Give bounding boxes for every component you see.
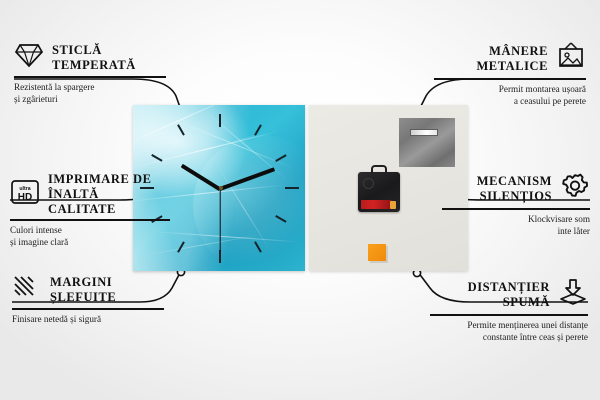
feature-tempered-glass[interactable]: STICLĂ TEMPERATĂ Rezistentă la spargere … <box>14 42 166 105</box>
feature-subtitle: Rezistentă la spargere și zgârieturi <box>14 81 166 105</box>
feature-foam-spacer[interactable]: DISTANȚIER SPUMĂ Permite menținerea unei… <box>430 278 588 343</box>
infographic-canvas: STICLĂ TEMPERATĂ Rezistentă la spargere … <box>0 0 600 400</box>
hanging-picture-icon <box>556 42 586 75</box>
hatched-edge-icon <box>12 274 42 305</box>
mechanism-hook <box>371 165 387 174</box>
feature-high-quality-print[interactable]: ultra HD IMPRIMARE DE ÎNALTĂ CALITATE Cu… <box>10 172 170 248</box>
mechanism-dial <box>363 178 374 189</box>
feature-divider <box>434 78 586 80</box>
feature-divider <box>442 208 590 210</box>
feature-title: IMPRIMARE DE ÎNALTĂ CALITATE <box>48 172 170 216</box>
clock-tick <box>285 187 299 189</box>
product-photo <box>133 105 468 271</box>
feature-title: STICLĂ TEMPERATĂ <box>52 43 136 73</box>
feature-subtitle: Permit montarea ușoară a ceasului pe per… <box>434 83 586 107</box>
feature-title: MECANISM SILENȚIOS <box>477 174 552 204</box>
clock-tick <box>219 250 221 263</box>
metal-hanger-bracket <box>399 118 455 167</box>
feature-title: MÂNERE METALICE <box>476 44 548 74</box>
feature-title: MARGINI ȘLEFUITE <box>50 275 116 305</box>
feature-divider <box>10 219 170 221</box>
ultra-hd-badge-icon: ultra HD <box>10 179 40 210</box>
clock-movement-mechanism <box>358 172 400 212</box>
feature-divider <box>14 76 166 78</box>
feature-subtitle: Culori intense și imagine clară <box>10 224 170 248</box>
foam-spacer-pad <box>368 244 386 261</box>
feature-polished-edges[interactable]: MARGINI ȘLEFUITE Finisare netedă și sigu… <box>12 274 164 325</box>
feature-metal-handles[interactable]: MÂNERE METALICE Permit montarea ușoară a… <box>434 42 586 107</box>
feature-subtitle: Finisare netedă și sigură <box>12 313 164 325</box>
press-down-layer-icon <box>558 278 588 311</box>
feature-silent-mechanism[interactable]: MECANISM SILENȚIOS Klockvisare som inte … <box>442 172 590 237</box>
clock-tick <box>219 114 221 127</box>
diamond-icon <box>14 42 44 73</box>
clock-tick <box>254 124 261 135</box>
clock-center-hub <box>219 186 223 190</box>
battery-terminal <box>390 201 396 209</box>
svg-text:HD: HD <box>18 192 32 203</box>
feature-subtitle: Permite menținerea unei distanțe constan… <box>430 319 588 343</box>
gear-icon <box>560 172 590 205</box>
hanger-slot <box>410 129 438 136</box>
battery <box>361 200 392 209</box>
feature-divider <box>12 308 164 310</box>
feature-divider <box>430 314 588 316</box>
clock-second-hand <box>219 189 220 251</box>
feature-title: DISTANȚIER SPUMĂ <box>468 280 550 310</box>
feature-subtitle: Klockvisare som inte låter <box>442 213 590 237</box>
